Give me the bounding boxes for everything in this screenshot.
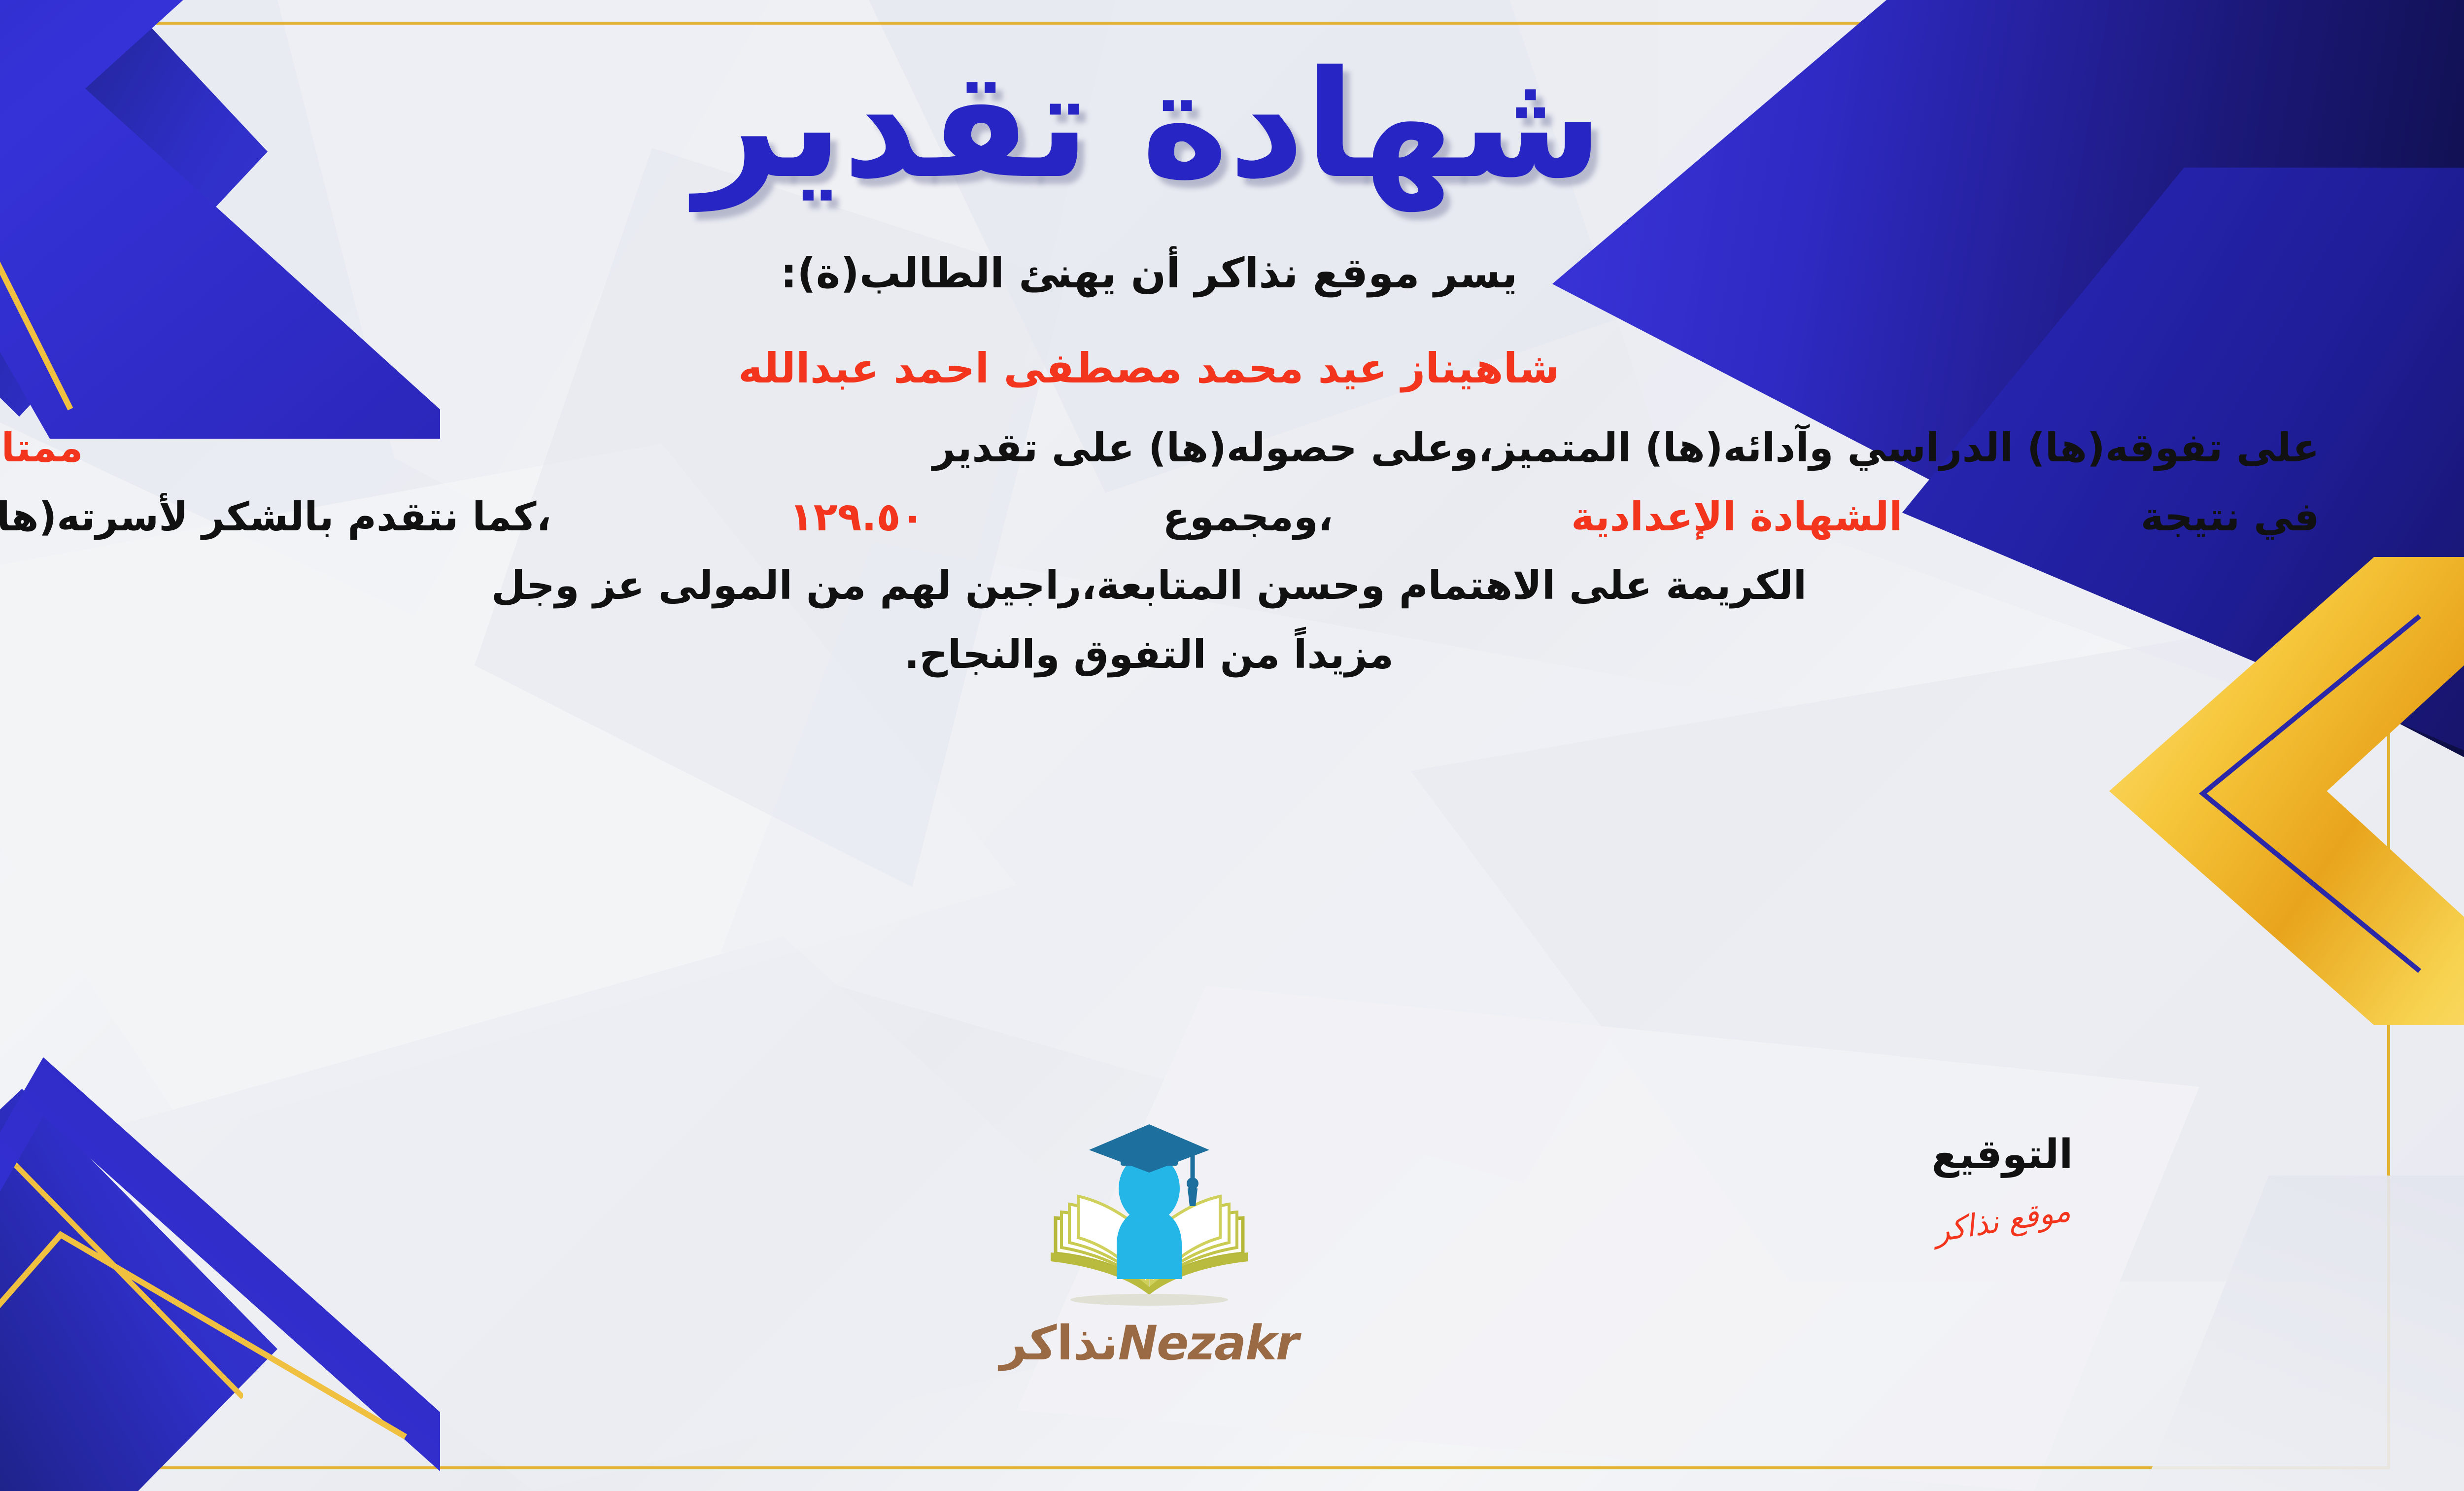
thanks-prefix: ،كما نتقدم بالشكر لأسرته(ها) [0,489,551,545]
result-prefix: في نتيجة [2141,489,2320,545]
logo-wordmark: Nezakrنذاكر [947,1316,1351,1371]
achievement-line: على تفوقه(ها) الدراسي وآدائه(ها) المتميز… [0,420,2320,476]
certificate-page: شهادة تقدير يسر موقع نذاكر أن يهنئ الطال… [0,0,2464,1491]
certificate-footer: التوقيع موقع نذاكر [0,1131,2464,1407]
signature-label: التوقيع [1830,1131,2175,1178]
signature-block: التوقيع موقع نذاكر [1830,1131,2175,1239]
logo-latin-name: Nezakr [1118,1316,1298,1371]
grade-value: ممتاز [0,420,83,476]
brand-logo: Nezakrنذاكر [947,1121,1351,1371]
student-name: شاهيناز عيد محمد مصطفى احمد عبدالله [0,344,2320,392]
certificate-body: يسر موقع نذاكر أن يهنئ الطالب(ة): شاهينا… [0,244,2320,695]
exam-name: الشهادة الإعدادية [1571,489,1903,545]
exam-result-line: في نتيجة الشهادة الإعدادية ،ومجموع ١٢٩.٥… [0,489,2320,545]
graduate-book-icon [1036,1121,1263,1318]
achievement-text: على تفوقه(ها) الدراسي وآدائه(ها) المتميز… [933,420,2320,476]
certificate-title: شهادة تقدير [695,47,1603,203]
signature-mark: موقع نذاكر [1932,1192,2073,1249]
total-score: ١٢٩.٥٠ [789,489,925,545]
thanks-line: الكريمة على الاهتمام وحسن المتابعة،راجين… [0,557,2320,614]
logo-arabic-name: نذاكر [1000,1316,1118,1371]
total-label: ،ومجموع [1163,489,1333,545]
closing-line: مزيداً من التفوق والنجاح. [0,626,2320,683]
intro-line: يسر موقع نذاكر أن يهنئ الطالب(ة): [0,244,2320,303]
